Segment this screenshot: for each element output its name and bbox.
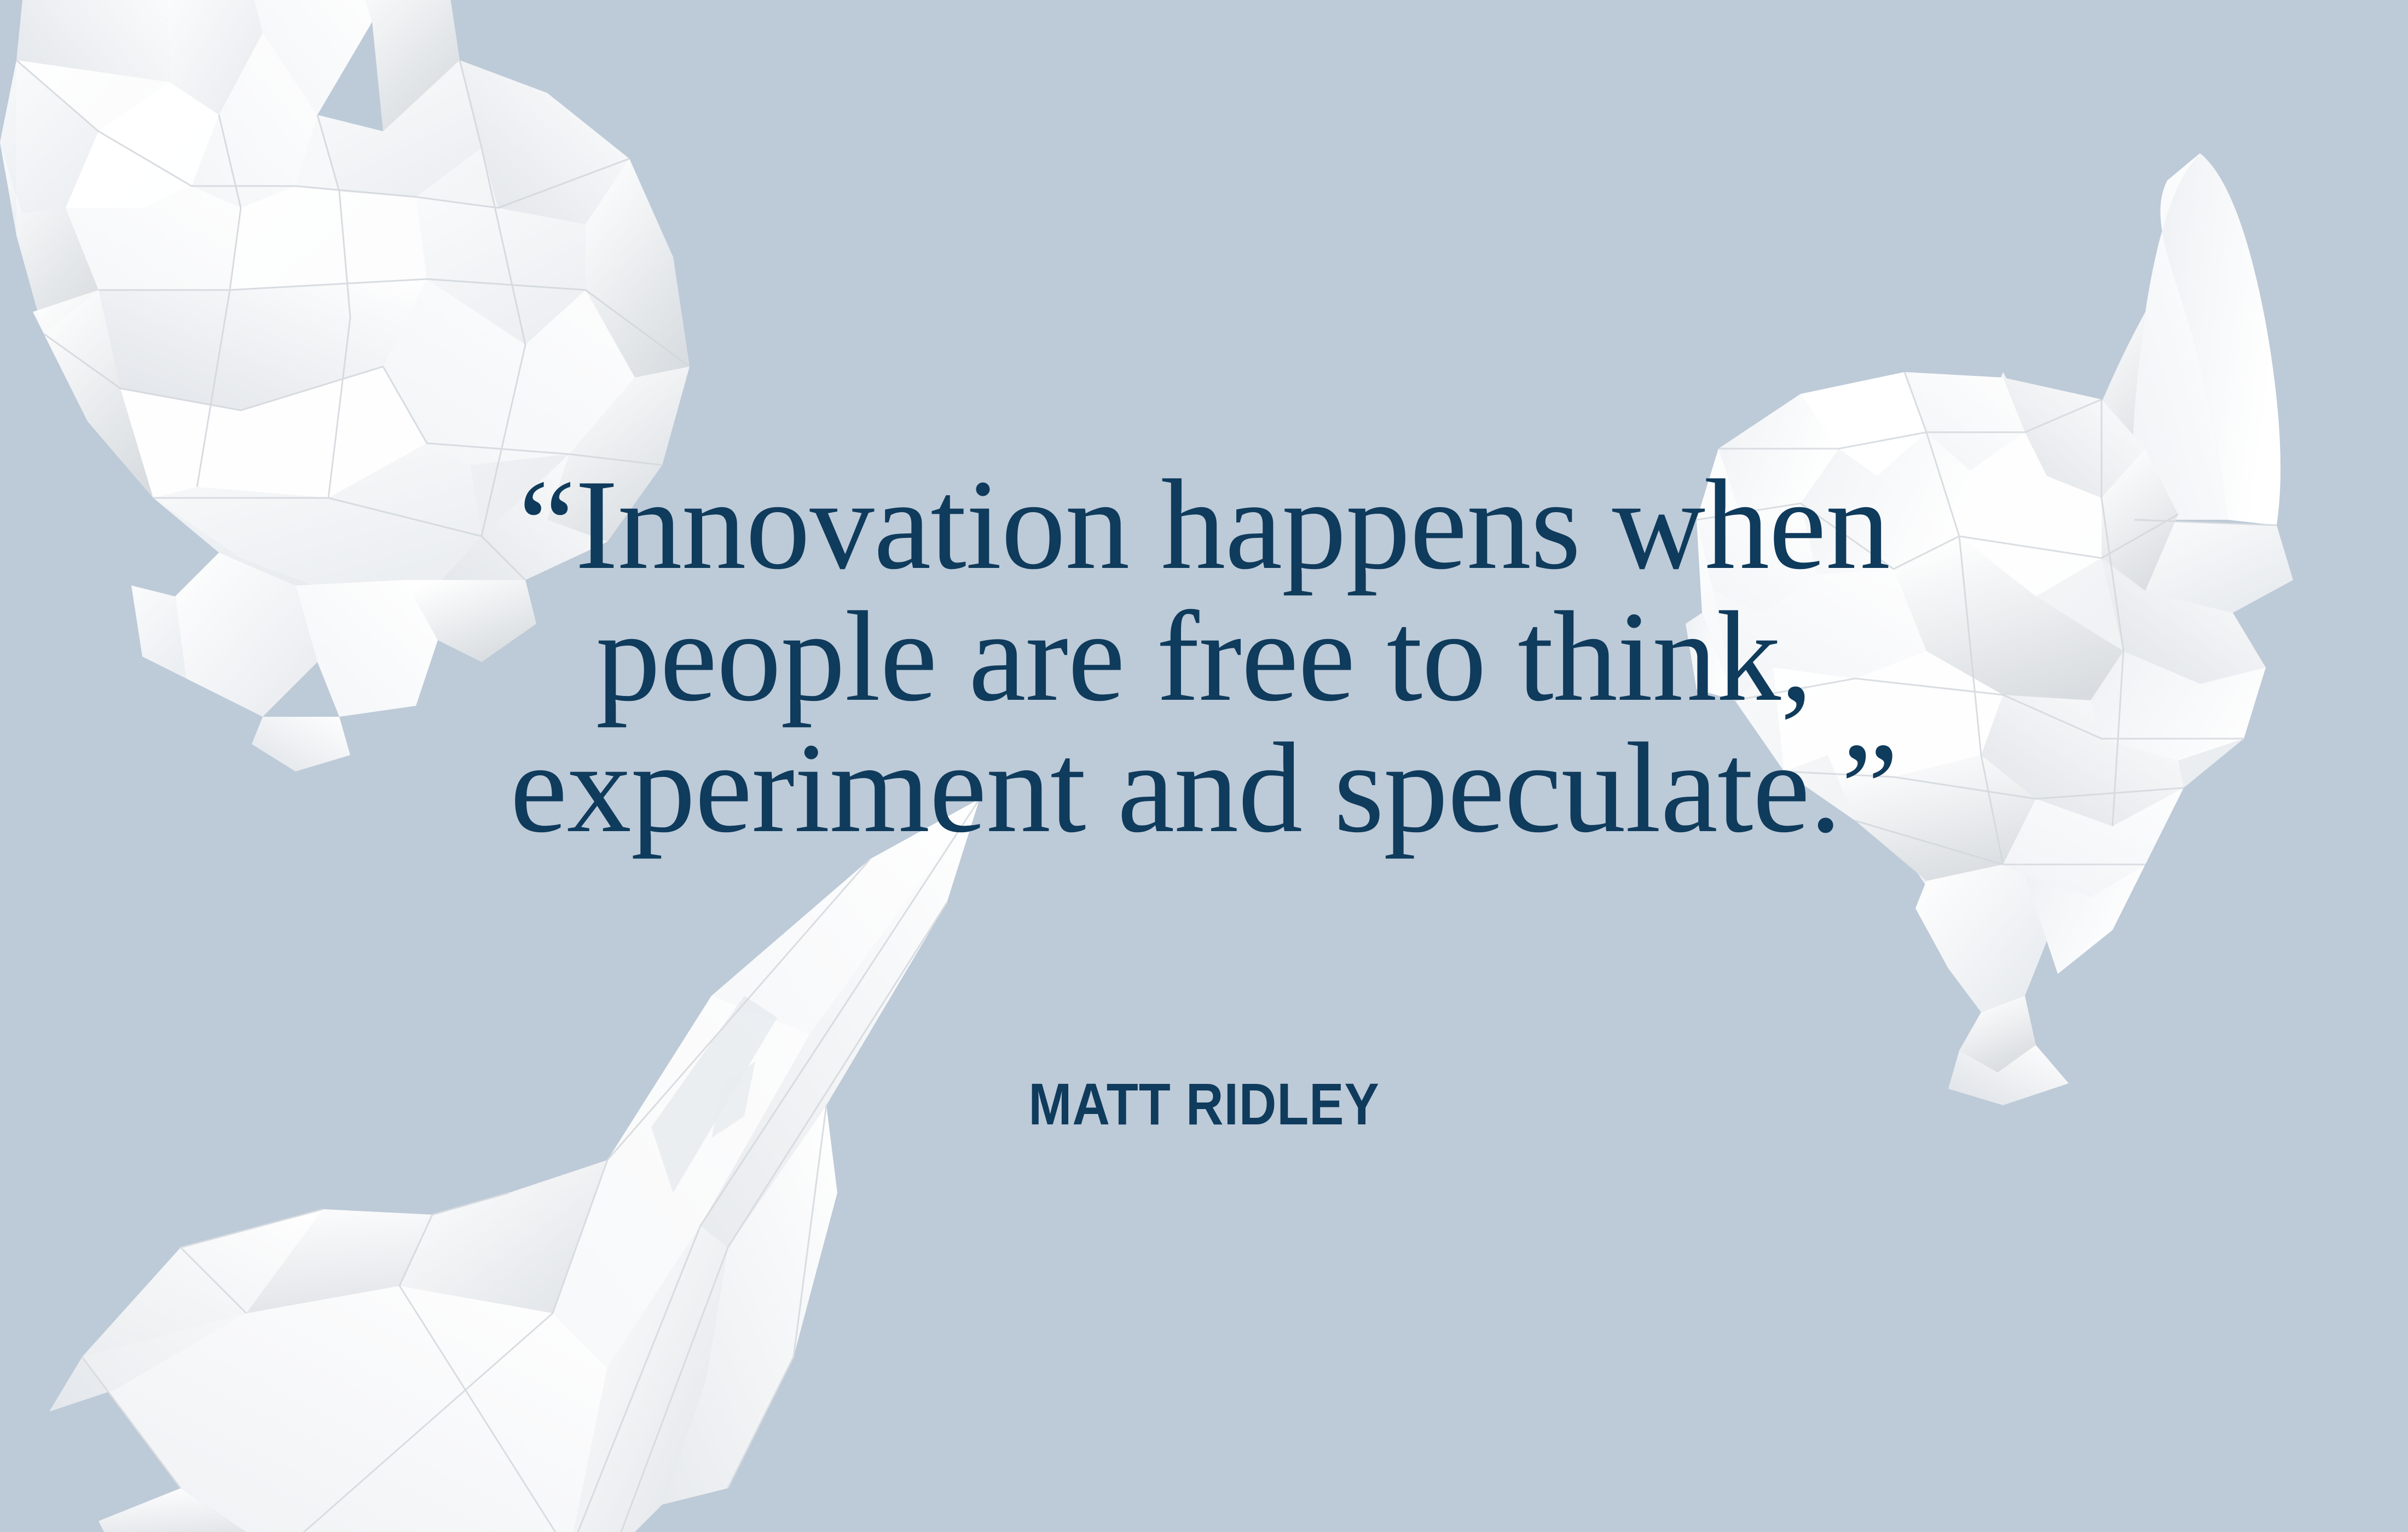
quote-line-3: experiment and speculate.” [0,723,2408,855]
quote-text-block: “Innovation happens when people are free… [0,460,2408,855]
attribution-author-name: MATT RIDLEY [144,1070,2264,1138]
quote-poster: “Innovation happens when people are free… [0,0,2408,1532]
quote-line-2: people are free to think, [0,591,2408,723]
paper-airplane-icon [16,777,1056,1532]
quote-line-1: “Innovation happens when [0,460,2408,591]
